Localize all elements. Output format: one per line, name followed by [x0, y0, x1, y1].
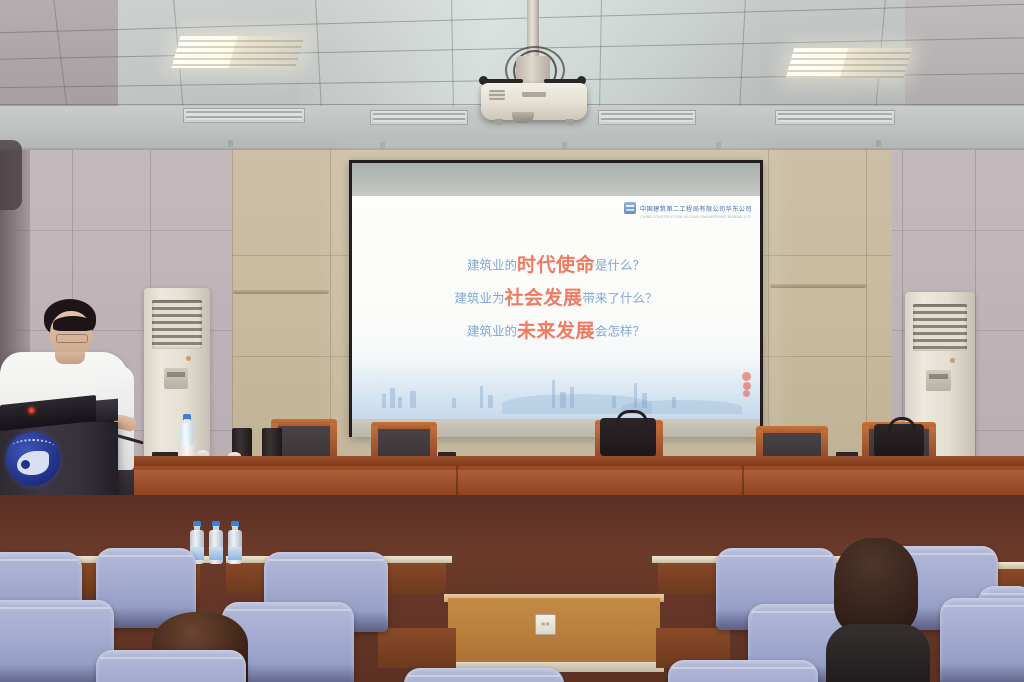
- skyline-building: [410, 391, 416, 408]
- presenter-neck: [55, 352, 85, 364]
- table-bottle[interactable]: [180, 414, 194, 444]
- ceiling-projector: [481, 83, 587, 120]
- wall-seam: [0, 230, 232, 231]
- slide-line-2: 建筑业为社会发展带来了什么？: [352, 289, 760, 308]
- projector-vent-icon: [489, 90, 505, 100]
- wall-rail-left: [233, 290, 329, 294]
- slide-line-2-tail: 带来了什么？: [583, 290, 658, 305]
- slide-brand-text: 中国建筑第二工程局有限公司华东公司: [640, 204, 752, 213]
- soffit-fixture: [380, 142, 385, 149]
- skyline-building: [390, 388, 395, 408]
- crest-emblem-icon: [17, 451, 49, 475]
- organization-crest: [6, 432, 60, 486]
- company-square-logo-icon: [624, 202, 636, 214]
- ac-indicator-light: [950, 358, 955, 363]
- skyline-building: [382, 394, 386, 408]
- ceiling-vent-2: [370, 110, 468, 125]
- slide-line-1-highlight: 时代使命: [517, 254, 595, 276]
- slide-line-1-tail: 是什么？: [595, 257, 645, 272]
- ac-control-panel: [164, 368, 188, 389]
- ac-vent-grill-icon: [152, 300, 202, 348]
- skyline-building: [570, 387, 574, 408]
- soffit-fixture: [876, 140, 881, 147]
- wall-seam: [892, 230, 1024, 231]
- wall-rail-right: [770, 284, 866, 288]
- ceiling-vent-1: [183, 108, 305, 123]
- slide-question-list: 建筑业的时代使命是什么？ 建筑业为社会发展带来了什么？ 建筑业的未来发展会怎样？: [352, 256, 760, 355]
- bag-handle: [616, 410, 648, 426]
- podium-status-light: [28, 407, 35, 414]
- audience-seat[interactable]: [96, 650, 246, 682]
- presenter-fringe: [53, 316, 93, 331]
- skyline-tower: [634, 383, 637, 408]
- head-table-gloss: [126, 470, 1024, 496]
- skyline-building: [672, 397, 676, 408]
- conference-room-scene: 中国建筑第二工程局有限公司华东公司 CHINA CONSTRUCTION SEC…: [0, 0, 1024, 682]
- desk-speaker-right: [262, 428, 282, 458]
- slide-line-3-lead: 建筑业的: [467, 323, 517, 338]
- slide-line-1-lead: 建筑业的: [467, 257, 517, 272]
- ac-control-panel: [926, 370, 951, 391]
- slide-line-1: 建筑业的时代使命是什么？: [352, 256, 760, 275]
- wall-dark-fixture: [0, 140, 22, 210]
- audience-seat[interactable]: [940, 598, 1024, 682]
- slide-line-2-lead: 建筑业为: [454, 290, 504, 305]
- slide-line-2-highlight: 社会发展: [504, 287, 582, 309]
- skyline-building: [612, 396, 616, 408]
- audience-seat[interactable]: [668, 660, 818, 682]
- slide-line-3-highlight: 未来发展: [517, 320, 595, 342]
- head-table-chair[interactable]: [756, 426, 828, 459]
- skyline-building: [452, 398, 456, 408]
- slide-brand-block: 中国建筑第二工程局有限公司华东公司 CHINA CONSTRUCTION SEC…: [624, 202, 752, 214]
- ac-indicator-light: [186, 356, 191, 361]
- audience-shoulders-right: [826, 624, 930, 682]
- projection-screen: 中国建筑第二工程局有限公司华东公司 CHINA CONSTRUCTION SEC…: [352, 196, 760, 420]
- skyline-building: [398, 397, 402, 408]
- skyline-building: [642, 393, 647, 408]
- soffit-fixture: [228, 140, 233, 147]
- slide-line-3: 建筑业的未来发展会怎样？: [352, 322, 760, 341]
- soffit-fixture: [562, 142, 567, 149]
- presenter-glasses: [56, 334, 88, 343]
- wall-power-outlet[interactable]: [535, 614, 556, 635]
- audience-desk-lower-left: [378, 628, 456, 668]
- ac-unit-left: [144, 288, 210, 466]
- conference-bag[interactable]: [874, 424, 924, 457]
- skyline-tower: [552, 380, 555, 408]
- slide-ribbon-decoration: [742, 372, 751, 398]
- soffit-fixture: [716, 142, 721, 149]
- head-table-chair[interactable]: [371, 422, 437, 458]
- projector-brand-label: [522, 92, 546, 97]
- panel-seam: [232, 150, 233, 470]
- ac-vent-grill-icon: [913, 304, 966, 351]
- ceiling-vent-3: [598, 110, 696, 125]
- skyline-building: [560, 392, 566, 408]
- slide-brand-subtext: CHINA CONSTRUCTION SECOND ENGINEERING BU…: [640, 215, 752, 219]
- recessed-light-right: [786, 48, 913, 78]
- slide-line-3-tail: 会怎样？: [595, 323, 645, 338]
- skyline-building: [480, 386, 483, 408]
- slide-skyline-graphic: [352, 358, 760, 420]
- audience-seat[interactable]: [404, 668, 564, 682]
- skyline-building: [488, 395, 493, 408]
- wall-seam: [975, 150, 976, 495]
- projection-screen-header-strip: [352, 163, 760, 198]
- conference-bag[interactable]: [600, 418, 656, 456]
- panel-seam: [768, 150, 769, 470]
- ceiling-vent-4: [775, 110, 895, 125]
- audience-head-right: [834, 538, 918, 634]
- projector-lens: [512, 112, 534, 123]
- recessed-light-left: [171, 36, 304, 68]
